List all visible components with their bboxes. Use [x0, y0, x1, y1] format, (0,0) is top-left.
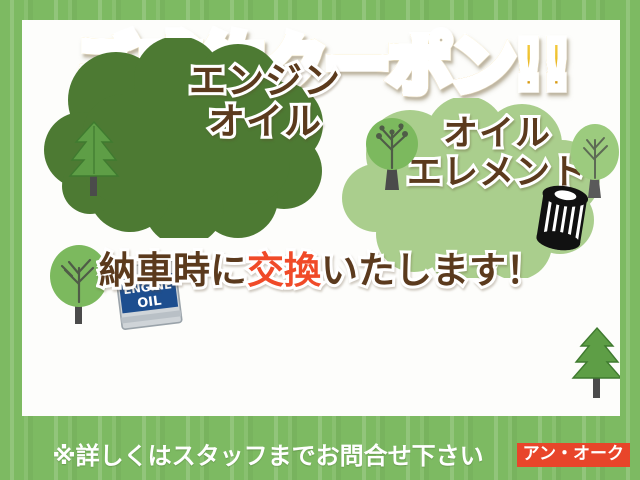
main-message-part-3: いたします！	[321, 249, 543, 292]
engine-oil-caption-line1: エンジン	[140, 60, 390, 101]
main-message: 納車時に交換いたします！	[22, 252, 620, 289]
footer-note: ※詳しくはスタッフまでお問合せ下さい	[0, 436, 536, 471]
white-content-panel: ご成約クーポン!! ご成約クーポン!!	[22, 20, 620, 416]
fir-tree-bottom-right-icon	[564, 324, 620, 400]
main-message-part-2: 交換	[247, 249, 321, 292]
fir-tree-top-left-icon	[58, 118, 130, 198]
coupon-poster: ご成約クーポン!! ご成約クーポン!!	[0, 0, 640, 480]
brand-badge: アン・オーク	[517, 443, 630, 467]
oil-filter-icon	[525, 175, 600, 258]
oil-can-label-line2: OIL	[136, 294, 162, 312]
main-message-part-1: 納車時に	[99, 249, 247, 292]
round-tree-center-icon	[360, 112, 424, 192]
